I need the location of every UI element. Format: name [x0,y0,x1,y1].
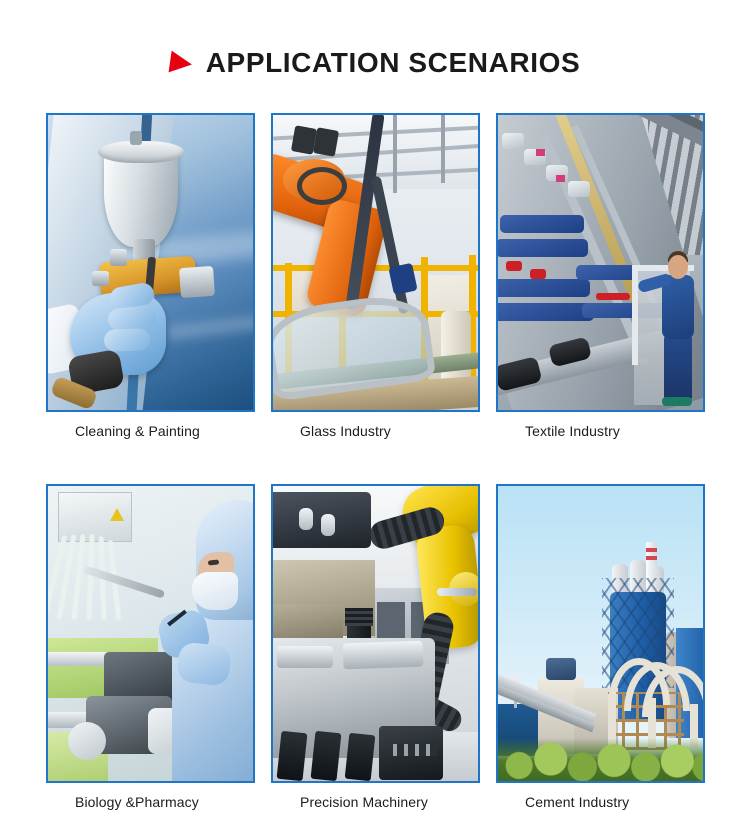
precision-robot-illustration [273,486,478,781]
scenario-card-textile-industry[interactable]: Textile Industry [496,113,705,439]
scenario-image-biology-pharmacy[interactable] [46,484,255,783]
scenario-caption: Textile Industry [496,423,705,439]
scenario-caption: Cleaning & Painting [46,423,255,439]
page-header: APPLICATION SCENARIOS [0,38,750,88]
scenario-card-biology-pharmacy[interactable]: Biology &Pharmacy [46,484,255,810]
textile-machine-illustration [498,115,703,410]
gallery-row: Cleaning & Painting [46,113,705,439]
application-scenarios-page: APPLICATION SCENARIOS [0,0,750,835]
red-triangle-icon [168,51,193,76]
scenario-image-cleaning-painting[interactable] [46,113,255,412]
gallery-row: Biology &Pharmacy [46,484,705,810]
glass-robot-illustration [273,115,478,410]
scenario-card-cement-industry[interactable]: Cement Industry [496,484,705,810]
scenario-card-cleaning-painting[interactable]: Cleaning & Painting [46,113,255,439]
scenario-caption: Glass Industry [271,423,480,439]
scenario-caption: Precision Machinery [271,794,480,810]
page-title: APPLICATION SCENARIOS [206,49,581,77]
scenario-image-cement-industry[interactable] [496,484,705,783]
cleanroom-worker-illustration [48,486,253,781]
scenario-gallery: Cleaning & Painting [46,113,705,810]
scenario-image-precision-machinery[interactable] [271,484,480,783]
scenario-image-glass-industry[interactable] [271,113,480,412]
cement-plant-illustration [498,486,703,781]
scenario-caption: Cement Industry [496,794,705,810]
scenario-caption: Biology &Pharmacy [46,794,255,810]
scenario-card-precision-machinery[interactable]: Precision Machinery [271,484,480,810]
spray-gun-illustration [48,115,253,410]
scenario-card-glass-industry[interactable]: Glass Industry [271,113,480,439]
scenario-image-textile-industry[interactable] [496,113,705,412]
